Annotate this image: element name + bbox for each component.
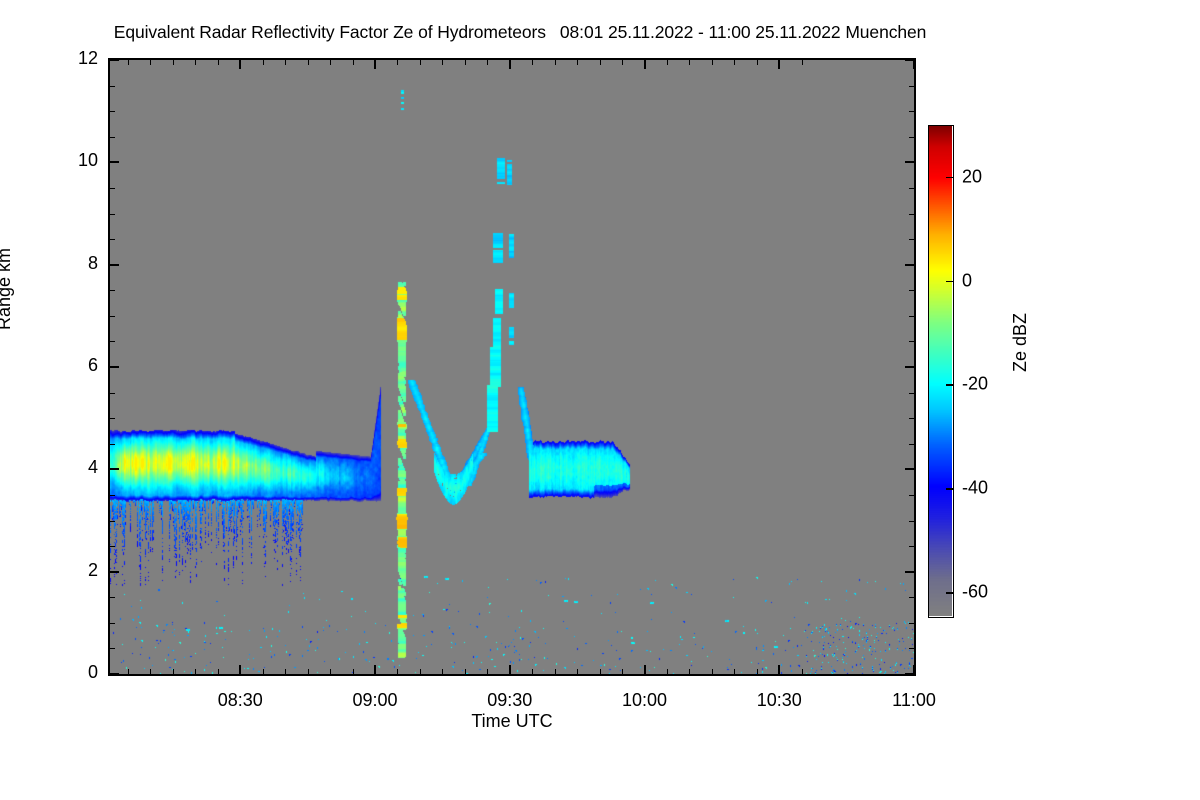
- y-tick-mark: [110, 366, 119, 368]
- x-tick-mark: [778, 665, 780, 674]
- colorbar-tick-mark: [946, 281, 954, 283]
- y-tick-label: 6: [60, 355, 98, 376]
- x-tick-minor: [308, 60, 309, 65]
- x-tick-minor: [802, 669, 803, 674]
- y-tick-minor: [110, 495, 115, 496]
- x-tick-mark: [644, 60, 646, 69]
- radar-reflectivity-figure: Equivalent Radar Reflectivity Factor Ze …: [0, 0, 1200, 800]
- y-tick-minor: [909, 444, 914, 445]
- y-tick-minor: [110, 521, 115, 522]
- x-tick-minor: [757, 60, 758, 65]
- x-tick-minor: [532, 669, 533, 674]
- x-tick-minor: [734, 669, 735, 674]
- x-tick-minor: [442, 669, 443, 674]
- x-tick-mark: [913, 60, 915, 69]
- y-tick-minor: [909, 648, 914, 649]
- x-tick-minor: [689, 669, 690, 674]
- x-tick-minor: [622, 60, 623, 65]
- y-tick-mark: [905, 161, 914, 163]
- colorbar-tick-label: -40: [962, 478, 988, 499]
- y-tick-minor: [909, 188, 914, 189]
- x-tick-minor: [577, 669, 578, 674]
- y-tick-mark: [905, 571, 914, 573]
- y-tick-minor: [110, 239, 115, 240]
- x-tick-mark: [778, 60, 780, 69]
- x-tick-minor: [285, 669, 286, 674]
- y-tick-minor: [909, 239, 914, 240]
- x-tick-minor: [442, 60, 443, 65]
- y-tick-minor: [110, 623, 115, 624]
- y-tick-mark: [110, 161, 119, 163]
- x-tick-minor: [712, 60, 713, 65]
- x-tick-minor: [734, 60, 735, 65]
- y-tick-mark: [905, 366, 914, 368]
- y-tick-minor: [909, 546, 914, 547]
- x-tick-minor: [689, 60, 690, 65]
- colorbar-tick-label: 20: [962, 166, 982, 187]
- x-tick-minor: [173, 669, 174, 674]
- y-tick-minor: [909, 214, 914, 215]
- x-tick-minor: [532, 60, 533, 65]
- colorbar-tick-label: -20: [962, 374, 988, 395]
- x-tick-minor: [757, 669, 758, 674]
- x-tick-minor: [330, 669, 331, 674]
- x-tick-mark: [374, 665, 376, 674]
- y-tick-minor: [110, 214, 115, 215]
- y-tick-minor: [909, 137, 914, 138]
- x-tick-minor: [487, 669, 488, 674]
- y-tick-minor: [110, 444, 115, 445]
- x-tick-mark: [644, 665, 646, 674]
- y-tick-minor: [909, 316, 914, 317]
- x-tick-minor: [173, 60, 174, 65]
- x-tick-minor: [577, 60, 578, 65]
- y-tick-mark: [110, 571, 119, 573]
- reflectivity-heatmap-canvas: [110, 60, 914, 674]
- x-tick-minor: [150, 60, 151, 65]
- x-tick-minor: [600, 669, 601, 674]
- colorbar: [928, 125, 954, 618]
- title-timerange: 08:01 25.11.2022 - 11:00 25.11.2022 Muen…: [560, 22, 926, 42]
- x-tick-minor: [487, 60, 488, 65]
- y-tick-minor: [909, 418, 914, 419]
- y-tick-minor: [909, 393, 914, 394]
- colorbar-tick-mark: [946, 177, 954, 179]
- y-tick-minor: [110, 316, 115, 317]
- colorbar-gradient: [929, 126, 952, 616]
- x-tick-minor: [128, 669, 129, 674]
- y-tick-minor: [110, 597, 115, 598]
- figure-title: Equivalent Radar Reflectivity Factor Ze …: [0, 22, 1040, 43]
- x-tick-minor: [667, 60, 668, 65]
- y-tick-label: 0: [60, 662, 98, 683]
- x-tick-minor: [555, 60, 556, 65]
- y-tick-minor: [110, 418, 115, 419]
- x-tick-label: 08:30: [218, 690, 263, 711]
- y-tick-label: 2: [60, 560, 98, 581]
- y-tick-mark: [110, 264, 119, 266]
- x-tick-label: 09:30: [487, 690, 532, 711]
- x-axis-label: Time UTC: [471, 711, 552, 732]
- colorbar-tick-mark: [946, 384, 954, 386]
- title-main: Equivalent Radar Reflectivity Factor Ze …: [114, 22, 546, 42]
- x-tick-mark: [239, 60, 241, 69]
- x-tick-mark: [913, 665, 915, 674]
- y-axis-label: Range km: [0, 248, 15, 330]
- colorbar-tick-label: -60: [962, 582, 988, 603]
- y-tick-mark: [905, 468, 914, 470]
- x-tick-minor: [218, 60, 219, 65]
- x-tick-minor: [712, 669, 713, 674]
- y-tick-minor: [110, 188, 115, 189]
- y-tick-mark: [110, 59, 119, 61]
- x-tick-minor: [353, 60, 354, 65]
- x-tick-minor: [195, 60, 196, 65]
- x-tick-minor: [802, 60, 803, 65]
- y-tick-minor: [909, 521, 914, 522]
- y-tick-minor: [909, 86, 914, 87]
- y-tick-label: 12: [60, 48, 98, 69]
- x-tick-mark: [509, 665, 511, 674]
- x-tick-minor: [555, 669, 556, 674]
- x-tick-mark: [239, 665, 241, 674]
- x-tick-mark: [509, 60, 511, 69]
- y-tick-minor: [110, 86, 115, 87]
- y-tick-minor: [110, 648, 115, 649]
- x-tick-minor: [285, 60, 286, 65]
- x-tick-label: 11:00: [892, 690, 936, 711]
- y-tick-minor: [909, 495, 914, 496]
- y-tick-minor: [909, 290, 914, 291]
- x-tick-minor: [465, 60, 466, 65]
- colorbar-tick-mark: [946, 488, 954, 490]
- x-tick-minor: [420, 669, 421, 674]
- x-tick-label: 09:00: [352, 690, 397, 711]
- colorbar-tick-mark: [946, 592, 954, 594]
- y-tick-minor: [909, 597, 914, 598]
- y-tick-minor: [909, 341, 914, 342]
- y-tick-mark: [905, 264, 914, 266]
- x-tick-minor: [128, 60, 129, 65]
- x-tick-label: 10:00: [622, 690, 667, 711]
- y-tick-label: 4: [60, 457, 98, 478]
- y-tick-label: 8: [60, 253, 98, 274]
- x-tick-minor: [622, 669, 623, 674]
- colorbar-tick-label: 0: [962, 270, 972, 291]
- y-tick-minor: [909, 111, 914, 112]
- colorbar-label: Ze dBZ: [1010, 313, 1031, 372]
- x-tick-minor: [330, 60, 331, 65]
- y-tick-minor: [110, 546, 115, 547]
- x-tick-minor: [420, 60, 421, 65]
- x-tick-label: 10:30: [757, 690, 802, 711]
- x-tick-minor: [308, 669, 309, 674]
- y-tick-minor: [110, 137, 115, 138]
- y-tick-minor: [110, 111, 115, 112]
- x-tick-minor: [263, 60, 264, 65]
- x-tick-minor: [465, 669, 466, 674]
- x-tick-minor: [397, 669, 398, 674]
- x-tick-minor: [195, 669, 196, 674]
- y-tick-mark: [110, 468, 119, 470]
- y-tick-minor: [110, 341, 115, 342]
- x-tick-mark: [374, 60, 376, 69]
- x-tick-minor: [600, 60, 601, 65]
- x-tick-minor: [667, 669, 668, 674]
- x-tick-minor: [397, 60, 398, 65]
- x-tick-minor: [353, 669, 354, 674]
- x-tick-minor: [150, 669, 151, 674]
- y-tick-minor: [110, 393, 115, 394]
- y-tick-minor: [110, 290, 115, 291]
- plot-area: [108, 58, 916, 676]
- y-tick-minor: [909, 623, 914, 624]
- x-tick-minor: [263, 669, 264, 674]
- y-tick-mark: [110, 673, 119, 675]
- x-tick-minor: [218, 669, 219, 674]
- y-tick-label: 10: [60, 150, 98, 171]
